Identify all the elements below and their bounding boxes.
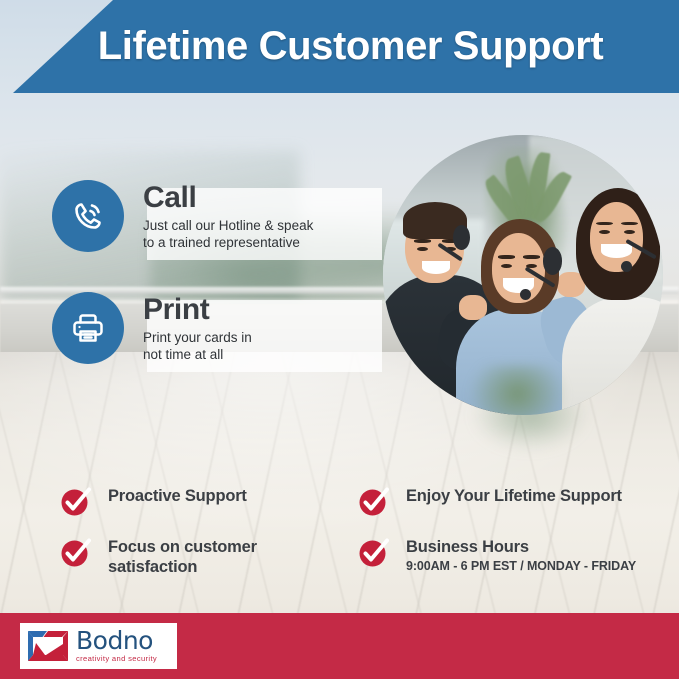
photo-agent-left-smile [422,261,450,274]
photo-agent-center-headset [543,247,563,275]
printer-icon [52,292,124,364]
check-badge-icon [60,487,91,518]
phone-call-icon [52,180,124,252]
feature-call-description-line2: to a trained representative [143,235,300,250]
page-title: Lifetime Customer Support [0,0,679,93]
feature-call-title: Call [143,183,313,213]
feature-print[interactable]: Print Print your cards in not time at al… [52,292,252,364]
checklist-item-lifetime-support-body: Enjoy Your Lifetime Support [406,486,622,506]
checklist-item-lifetime-support-title: Enjoy Your Lifetime Support [406,486,622,506]
checklist-item-lifetime-support[interactable]: Enjoy Your Lifetime Support [358,486,622,518]
photo-agent-right-face [590,202,643,272]
feature-call-description: Just call our Hotline & speak to a train… [143,218,313,251]
checklist-item-business-hours-body: Business Hours 9:00AM - 6 PM EST / MONDA… [406,537,636,575]
checklist-item-focus-customer-body: Focus on customer satisfaction [108,537,257,577]
check-badge-icon [358,487,389,518]
checklist-item-business-hours-subtitle: 9:00AM - 6 PM EST / MONDAY - FRIDAY [406,559,636,575]
checklist-item-proactive-support-title: Proactive Support [108,486,247,506]
check-badge-icon [358,538,389,569]
photo-agent-left-headset [453,225,470,250]
checklist-item-focus-customer[interactable]: Focus on customer satisfaction [60,537,257,577]
feature-call-description-line1: Just call our Hotline & speak [143,218,313,233]
checklist-item-focus-customer-title: Focus on customer [108,537,257,557]
bodno-logo-wordmark: Bodno creativity and security [76,629,157,663]
feature-print-description-line2: not time at all [143,347,223,362]
check-badge-icon [60,538,91,569]
checklist-item-business-hours[interactable]: Business Hours 9:00AM - 6 PM EST / MONDA… [358,537,636,575]
checklist-item-focus-customer-title-line2: satisfaction [108,557,257,577]
feature-print-title: Print [143,295,252,325]
photo-agent-center-eye [501,264,512,268]
checklist-item-business-hours-title: Business Hours [406,537,636,557]
checklist-item-proactive-support-body: Proactive Support [108,486,247,506]
bodno-logo-mark [27,630,69,662]
photo-agent-center-brow [498,255,515,259]
feature-call[interactable]: Call Just call our Hotline & speak to a … [52,180,313,252]
photo-agent-left-brow [414,239,431,243]
footer-bar: Bodno creativity and security [0,613,679,679]
feature-print-description-line1: Print your cards in [143,330,252,345]
support-poster: Lifetime Customer Support [0,0,679,679]
team-photo [383,135,663,415]
feature-print-text: Print Print your cards in not time at al… [143,293,252,363]
photo-foreground-plant [467,365,568,415]
checklist-item-proactive-support[interactable]: Proactive Support [60,486,247,518]
bodno-logo-tagline: creativity and security [76,654,157,663]
feature-print-description: Print your cards in not time at all [143,330,252,363]
feature-call-text: Call Just call our Hotline & speak to a … [143,181,313,251]
bodno-logo-name: Bodno [76,629,157,653]
photo-agent-center-brow [523,255,540,259]
bodno-logo[interactable]: Bodno creativity and security [20,623,177,669]
